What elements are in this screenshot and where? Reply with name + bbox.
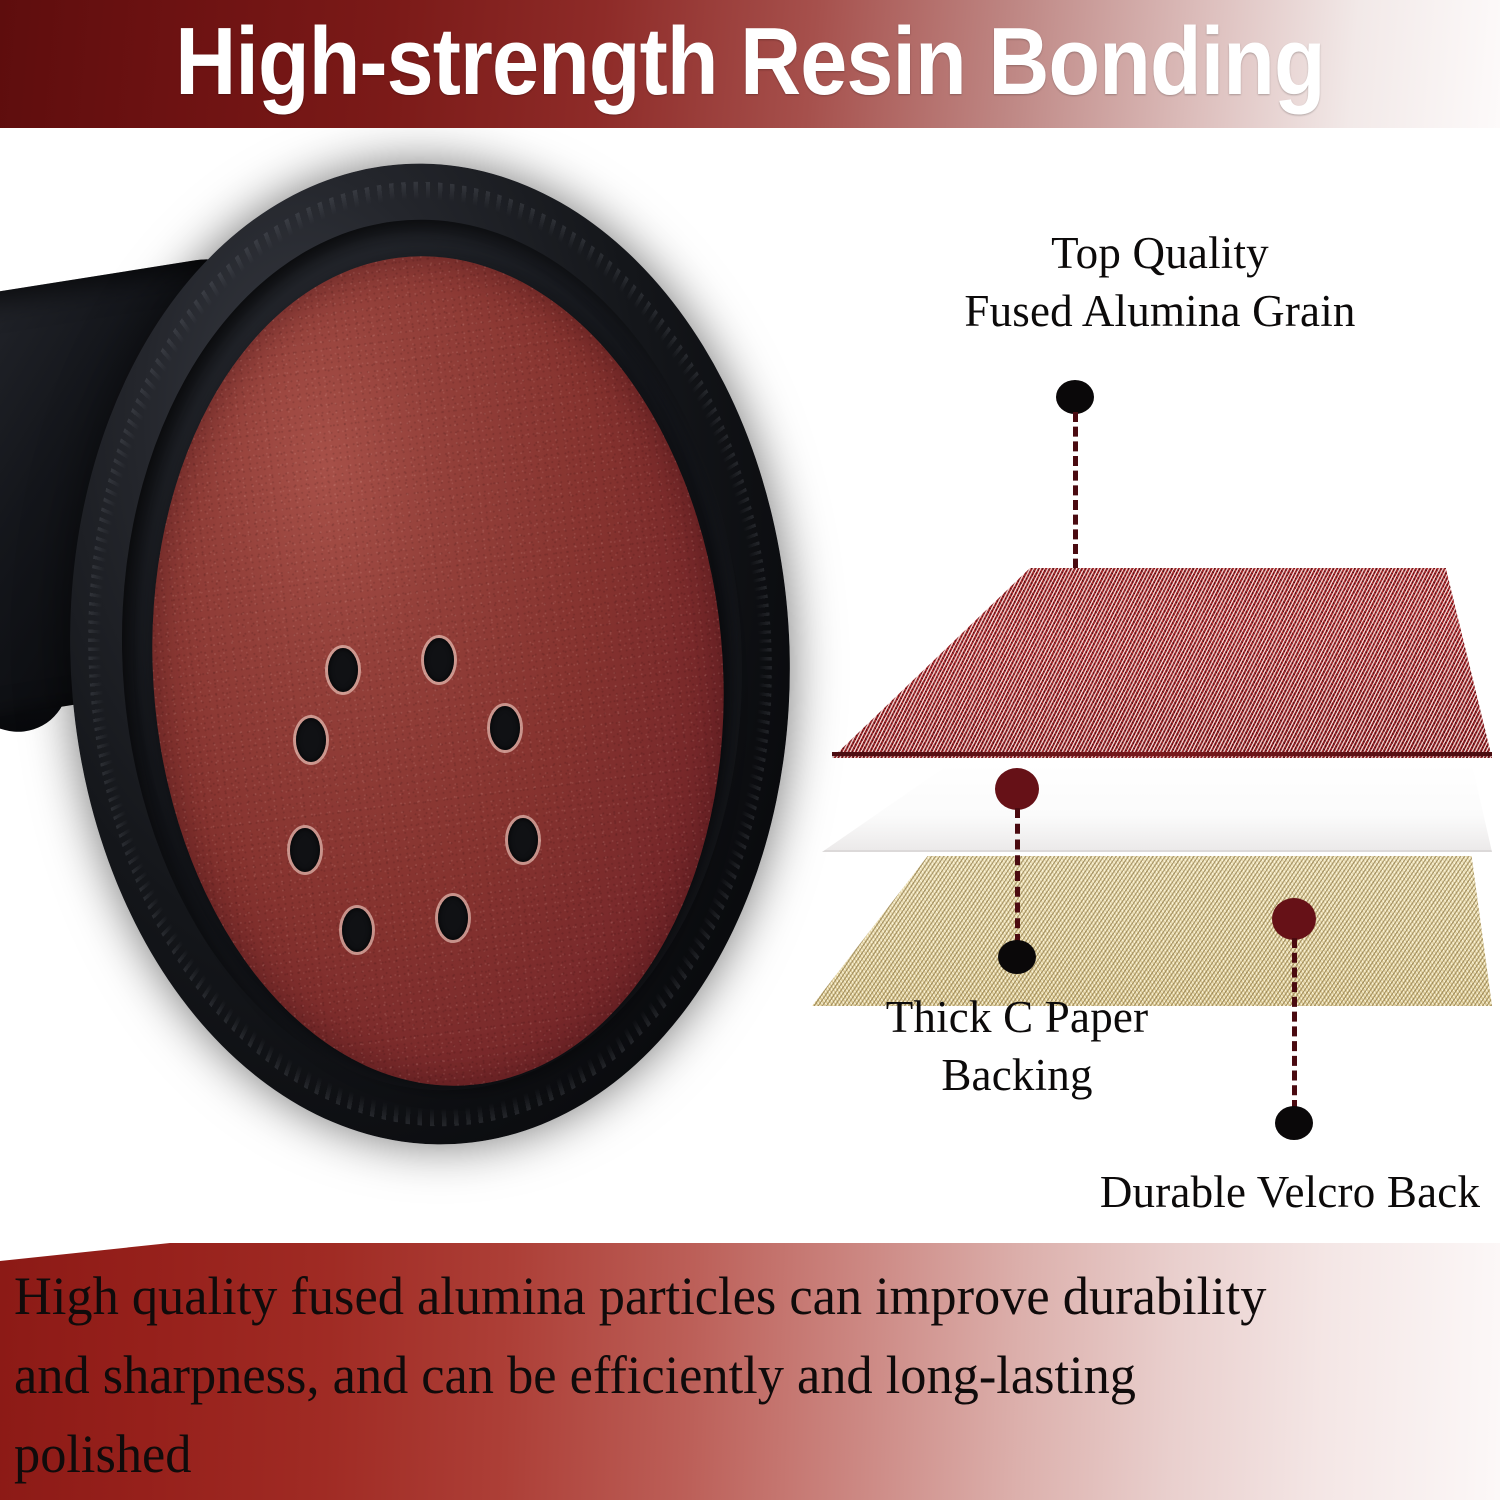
dust-hole [508, 818, 538, 862]
footer-banner: High quality fused alumina particles can… [0, 1243, 1500, 1500]
footer-line-1: High quality fused alumina particles can… [14, 1257, 1440, 1336]
dust-hole [290, 828, 320, 872]
layer-thick-c-paper-backing [822, 764, 1492, 852]
layer-durable-velcro-back [812, 856, 1492, 1006]
footer-description: High quality fused alumina particles can… [14, 1257, 1440, 1494]
layer-fused-alumina-grain [832, 568, 1492, 758]
label-line-2: Backing [842, 1046, 1192, 1104]
dust-hole [490, 706, 520, 750]
footer-line-3: polished [14, 1415, 1440, 1494]
label-line-2: Fused Alumina Grain [820, 282, 1500, 340]
footer-line-2: and sharpness, and can be efficiently an… [14, 1336, 1440, 1415]
layer-dot-velcro [1272, 898, 1316, 940]
label-durable-velcro-back: Durable Velcro Back [1080, 1163, 1500, 1221]
label-line-1: Thick C Paper [842, 988, 1192, 1046]
callout-dot-paper [998, 940, 1036, 974]
dust-hole [424, 638, 454, 682]
leader-line-paper [1015, 808, 1020, 944]
leader-line-velcro [1292, 938, 1297, 1110]
label-line-1: Top Quality [820, 224, 1500, 282]
label-line-1: Durable Velcro Back [1080, 1163, 1500, 1221]
label-fused-alumina-grain: Top Quality Fused Alumina Grain [820, 224, 1500, 340]
header-banner: High-strength Resin Bonding [0, 0, 1500, 128]
layer-diagram: Top Quality Fused Alumina Grain Thick C … [820, 128, 1500, 1238]
dust-hole [342, 908, 372, 952]
main-stage: Top Quality Fused Alumina Grain Thick C … [0, 128, 1500, 1243]
callout-dot-grain [1056, 380, 1094, 414]
layer-dot-paper [995, 768, 1039, 810]
label-thick-c-paper-backing: Thick C Paper Backing [842, 988, 1192, 1104]
dust-hole [328, 648, 358, 692]
page-title: High-strength Resin Bonding [90, 6, 1410, 118]
dust-hole [438, 896, 468, 940]
callout-dot-velcro [1275, 1106, 1313, 1140]
sander-product-photo [0, 128, 840, 1168]
dust-hole [296, 718, 326, 762]
